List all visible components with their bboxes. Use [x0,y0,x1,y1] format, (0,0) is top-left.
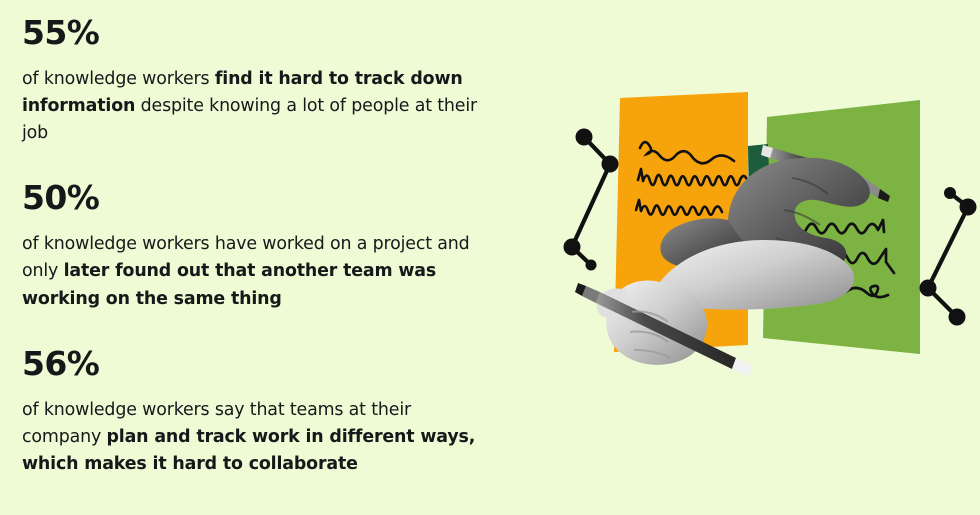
node-dot [602,156,619,173]
stat-block: 50% of knowledge workers have worked on … [22,179,502,312]
stat-description-lead: of knowledge workers [22,69,215,89]
node-link-chain-right [920,187,977,326]
collage-illustration [540,60,980,390]
stat-description: of knowledge workers find it hard to tra… [22,66,492,147]
pencil-eraser [732,358,752,377]
node-dot [576,129,593,146]
node-dot [944,187,956,199]
stat-description: of knowledge workers say that teams at t… [22,397,492,478]
node-dot [949,309,966,326]
stat-description: of knowledge workers have worked on a pr… [22,231,492,312]
infographic-canvas: 55% of knowledge workers find it hard to… [0,0,980,515]
node-link-chain-left [564,129,619,271]
node-dot [960,199,977,216]
stat-value: 56% [22,345,502,384]
stat-description-emphasis: later found out that another team was wo… [22,261,436,308]
statistics-column: 55% of knowledge workers find it hard to… [22,14,502,478]
stat-block: 56% of knowledge workers say that teams … [22,345,502,478]
node-dot [586,260,597,271]
stat-value: 55% [22,14,502,53]
node-dot [920,280,937,297]
stat-block: 55% of knowledge workers find it hard to… [22,14,502,147]
stat-value: 50% [22,179,502,218]
node-dot [564,239,581,256]
